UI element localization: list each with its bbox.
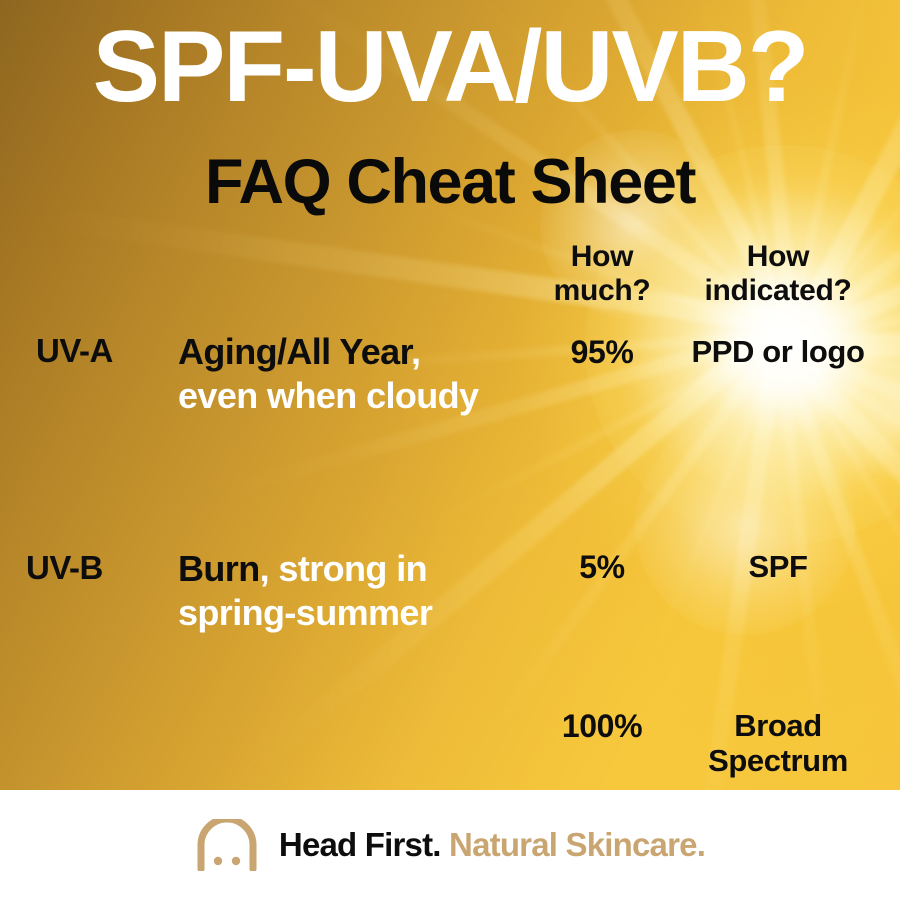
column-header-amount: How much? — [528, 240, 676, 308]
arch-face-logo-icon — [195, 819, 259, 871]
cell-amount-uvb: 5% — [528, 549, 676, 585]
cell-amount-total: 100% — [528, 708, 676, 744]
cell-amount-uva: 95% — [528, 334, 676, 370]
cell-indication-total: Broad Spectrum — [678, 708, 878, 779]
cell-indication-uva: PPD or logo — [678, 334, 878, 369]
row-description-uva-keyword: Aging/All Year — [178, 331, 411, 372]
row-description-uvb-keyword: Burn — [178, 548, 260, 589]
row-description-uva: Aging/All Year, even when cloudy — [178, 330, 488, 418]
brand-primary-text: Head First. — [279, 826, 441, 863]
page-subtitle: FAQ Cheat Sheet — [0, 148, 900, 217]
row-label-uva: UV-A — [36, 332, 113, 370]
brand-secondary-text: Natural Skincare. — [449, 826, 705, 863]
row-label-uvb: UV-B — [26, 549, 103, 587]
cell-indication-uvb: SPF — [678, 549, 878, 584]
row-description-uvb: Burn, strong in spring-summer — [178, 547, 488, 635]
footer-brand-bar: Head First. Natural Skincare. — [0, 790, 900, 900]
column-header-indication: How indicated? — [678, 240, 878, 308]
infographic-poster: SPF-UVA/UVB? FAQ Cheat Sheet How much? H… — [0, 0, 900, 900]
brand-wordmark: Head First. Natural Skincare. — [279, 826, 705, 864]
page-title: SPF-UVA/UVB? — [0, 14, 900, 120]
